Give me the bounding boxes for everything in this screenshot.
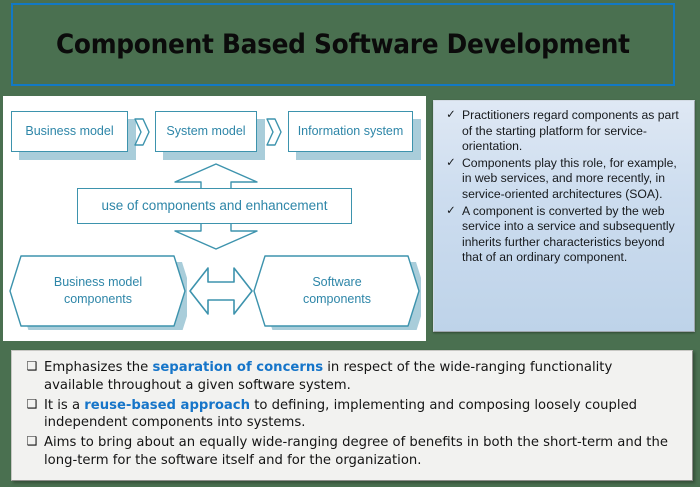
list-item: ✓ Components play this role, for example… (440, 156, 686, 203)
key-points-panel: ✓ Practitioners regard components as par… (433, 100, 695, 332)
up-arrow-icon (171, 162, 261, 191)
checkbox-icon: ❑ (20, 434, 44, 450)
diagram-box-use-of-components[interactable]: use of components and enhancement (77, 188, 352, 224)
highlighted-phrase: separation of concerns (152, 360, 323, 375)
checkbox-icon: ❑ (20, 397, 44, 413)
list-item-text: Emphasizes the separation of concerns in… (44, 359, 672, 395)
page-title-box: Component Based Software Development (11, 3, 675, 86)
list-item: ❑ It is a reuse-based approach to defini… (20, 397, 682, 433)
diagram-box-label: Business model (25, 124, 113, 138)
diagram-hexagon-business-model-components[interactable]: Business model components (9, 252, 187, 330)
diagram-hexagon-software-components[interactable]: Software components (253, 252, 421, 330)
chevron-connector-icon (133, 117, 151, 147)
down-arrow-icon (171, 222, 261, 251)
diagram-panel: Business model System model Information … (3, 96, 426, 341)
chevron-connector-icon (265, 117, 283, 147)
list-item-text: Aims to bring about an equally wide-rang… (44, 434, 672, 470)
checkbox-icon: ❑ (20, 359, 44, 375)
list-item: ✓ Practitioners regard components as par… (440, 108, 686, 155)
diagram-box-system-model[interactable]: System model (155, 111, 257, 152)
list-item-text: A component is converted by the web serv… (462, 204, 686, 266)
diagram-box-information-system[interactable]: Information system (288, 111, 413, 152)
diagram-box-label: use of components and enhancement (102, 198, 328, 214)
check-icon: ✓ (440, 204, 462, 219)
hexagon-shape (9, 252, 187, 330)
list-item: ❑ Emphasizes the separation of concerns … (20, 359, 682, 395)
diagram-box-label: System model (166, 124, 245, 138)
list-item-text: Components play this role, for example, … (462, 156, 686, 203)
hexagon-shape (253, 252, 421, 330)
diagram-box-label: Information system (298, 124, 404, 138)
highlighted-phrase: reuse-based approach (84, 398, 250, 413)
list-item: ❑ Aims to bring about an equally wide-ra… (20, 434, 682, 470)
page-title: Component Based Software Development (56, 29, 630, 60)
left-right-arrow-icon (188, 264, 254, 318)
list-item-text: Practitioners regard components as part … (462, 108, 686, 155)
summary-panel: ❑ Emphasizes the separation of concerns … (11, 350, 693, 481)
list-item-text: It is a reuse-based approach to defining… (44, 397, 672, 433)
text-run: Aims to bring about an equally wide-rang… (44, 435, 668, 468)
list-item: ✓ A component is converted by the web se… (440, 204, 686, 266)
text-run: It is a (44, 398, 84, 413)
check-icon: ✓ (440, 156, 462, 171)
check-icon: ✓ (440, 108, 462, 123)
text-run: Emphasizes the (44, 360, 152, 375)
diagram-box-business-model[interactable]: Business model (11, 111, 128, 152)
